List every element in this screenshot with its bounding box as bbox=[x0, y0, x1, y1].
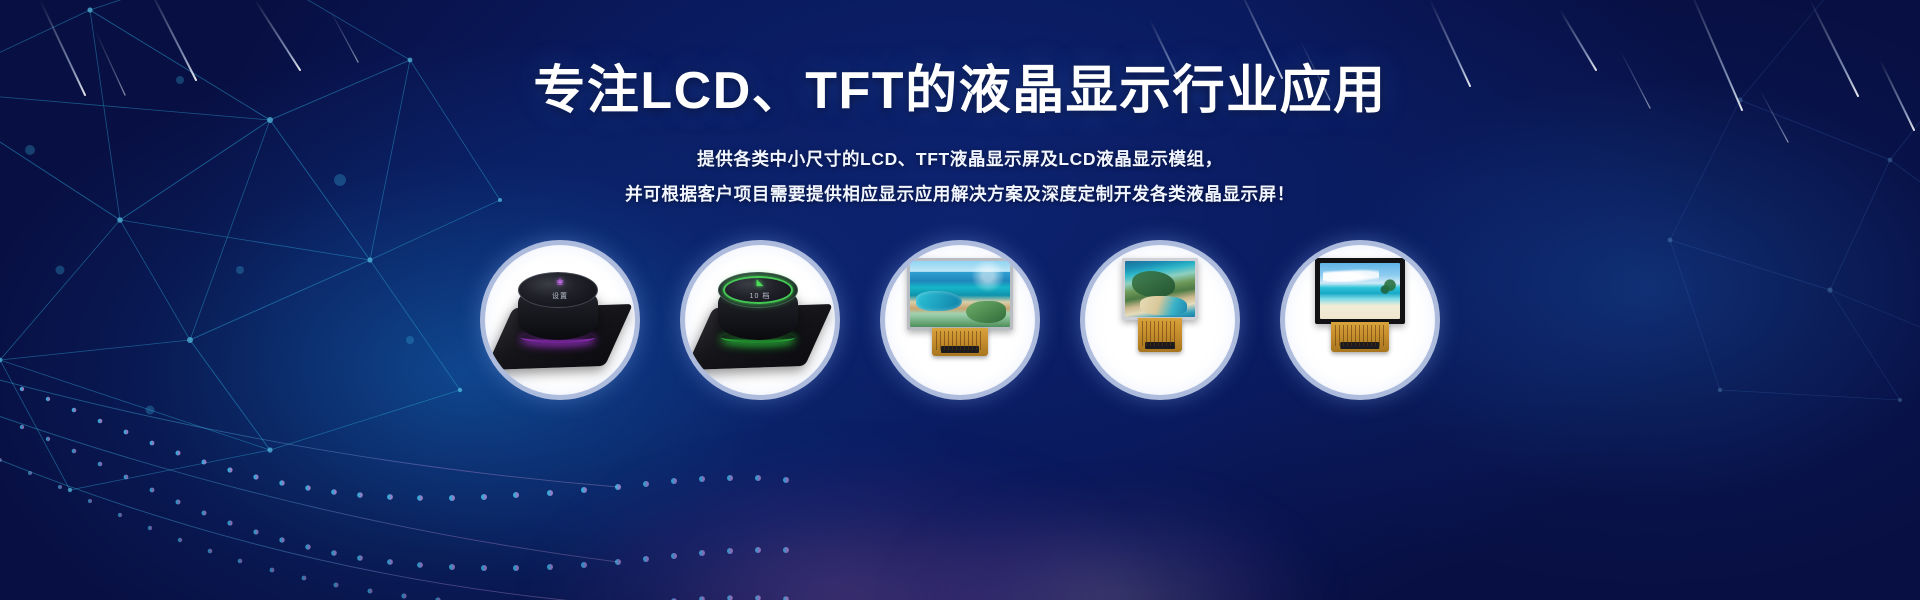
lcd-screen bbox=[910, 261, 1010, 327]
fpc-ribbon-cable bbox=[1138, 318, 1182, 352]
product-circle-1[interactable]: ❀ 设置 bbox=[480, 240, 640, 400]
subtitle-line-2: 并可根据客户项目需要提供相应显示应用解决方案及深度定制开发各类液晶显示屏！ bbox=[0, 177, 1920, 212]
lcd-screen bbox=[1320, 263, 1400, 319]
bottom-pink-glow bbox=[902, 490, 1322, 600]
lcd-display-aerial bbox=[1096, 258, 1224, 382]
fpc-driver-chip bbox=[1145, 342, 1175, 349]
puck-screen-glyph-icon: ◣ bbox=[694, 278, 826, 287]
puck-device-green: ◣ 10 档 bbox=[694, 264, 826, 376]
screen-image-aerial bbox=[1125, 261, 1195, 317]
product-showcase-row: ❀ 设置 ◣ 10 档 bbox=[0, 240, 1920, 400]
screen-image-beach bbox=[1320, 263, 1400, 319]
product-circle-2[interactable]: ◣ 10 档 bbox=[680, 240, 840, 400]
product-circle-4[interactable] bbox=[1080, 240, 1240, 400]
screen-image-pool bbox=[910, 261, 1010, 327]
subtitle-line-1: 提供各类中小尺寸的LCD、TFT液晶显示屏及LCD液晶显示模组， bbox=[0, 142, 1920, 177]
lcd-screen bbox=[1125, 261, 1195, 317]
product-circle-3[interactable] bbox=[880, 240, 1040, 400]
puck-screen-glyph-icon: ❀ bbox=[494, 278, 626, 287]
fpc-driver-chip bbox=[941, 346, 979, 353]
puck-screen-label: 10 档 bbox=[694, 291, 826, 301]
promo-banner: 专注LCD、TFT的液晶显示行业应用 提供各类中小尺寸的LCD、TFT液晶显示屏… bbox=[0, 0, 1920, 600]
lcd-panel bbox=[1315, 258, 1405, 324]
fpc-ribbon-cable bbox=[1331, 322, 1389, 352]
lcd-panel bbox=[1122, 258, 1198, 320]
banner-text-block: 专注LCD、TFT的液晶显示行业应用 提供各类中小尺寸的LCD、TFT液晶显示屏… bbox=[0, 62, 1920, 212]
lcd-panel bbox=[907, 258, 1013, 330]
product-circle-5[interactable] bbox=[1280, 240, 1440, 400]
fpc-ribbon-cable bbox=[932, 328, 988, 356]
subtitle-group: 提供各类中小尺寸的LCD、TFT液晶显示屏及LCD液晶显示模组， 并可根据客户项… bbox=[0, 142, 1920, 212]
lcd-display-pool bbox=[896, 258, 1024, 382]
lcd-display-beach bbox=[1296, 258, 1424, 382]
bottom-purple-glow bbox=[538, 450, 1158, 600]
puck-device-purple: ❀ 设置 bbox=[494, 264, 626, 376]
fpc-driver-chip bbox=[1340, 342, 1379, 349]
puck-screen-label: 设置 bbox=[494, 291, 626, 301]
page-title: 专注LCD、TFT的液晶显示行业应用 bbox=[0, 62, 1920, 120]
